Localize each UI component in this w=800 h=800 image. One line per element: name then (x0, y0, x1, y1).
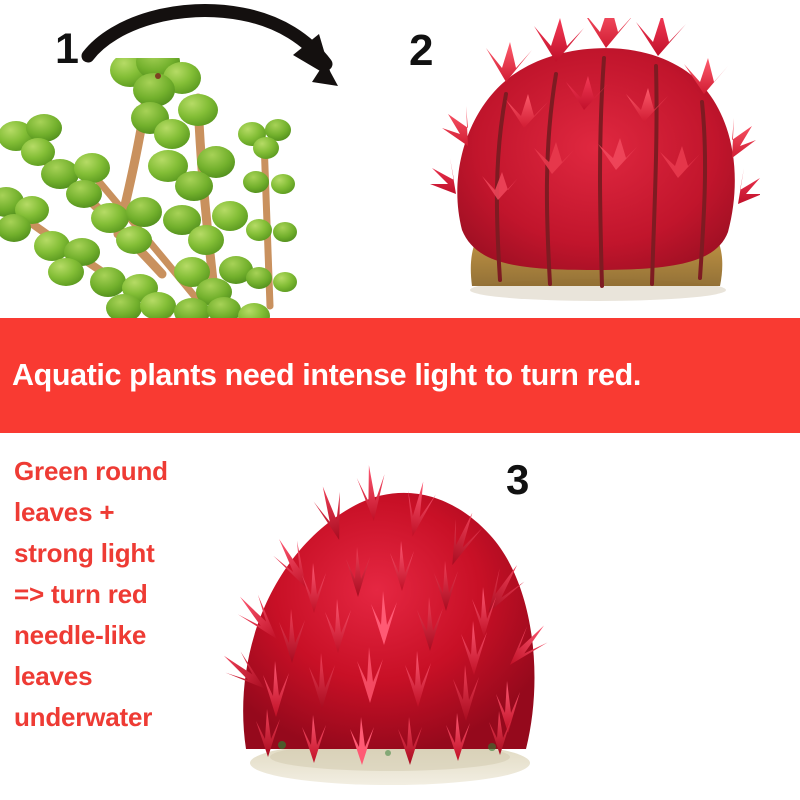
red-needle-leaf-plant-image (222, 461, 552, 796)
red-broad-leaf-plant-image (420, 18, 760, 314)
caption-line-6: leaves (14, 656, 244, 697)
step-number-2: 2 (409, 29, 433, 73)
infographic-root: 1 (0, 0, 800, 800)
step-number-1: 1 (55, 28, 79, 71)
caption-line-1: Green round (14, 451, 244, 492)
caption-line-5: needle-like (14, 615, 244, 656)
panel-step-3: Green round leaves + strong light => tur… (0, 433, 800, 800)
caption-line-4: => turn red (14, 574, 244, 615)
caption-block: Green round leaves + strong light => tur… (14, 451, 244, 738)
step-number-3: 3 (506, 459, 529, 501)
caption-line-2: leaves + (14, 492, 244, 533)
headline-text: Aquatic plants need intense light to tur… (0, 358, 641, 393)
curved-arrow-right-icon (70, 0, 360, 100)
headline-banner: Aquatic plants need intense light to tur… (0, 318, 800, 433)
panel-step-1: 1 (0, 0, 400, 318)
panel-step-2: 2 (400, 0, 800, 318)
caption-line-7: underwater (14, 697, 244, 738)
caption-line-3: strong light (14, 533, 244, 574)
